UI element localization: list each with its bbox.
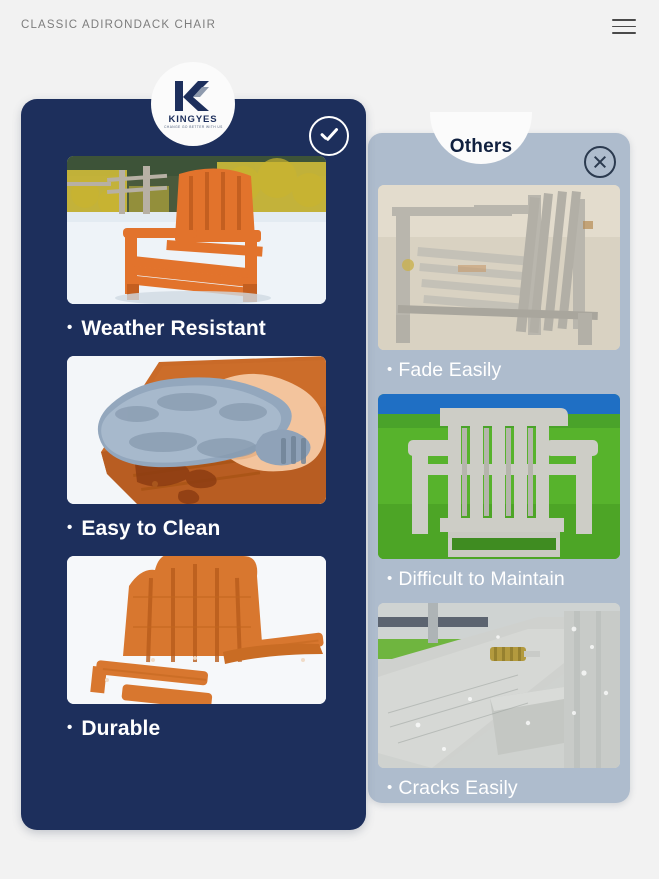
- list-item: •Cracks Easily: [378, 603, 620, 800]
- ours-panel: •Weather Resistant: [21, 99, 366, 830]
- bullet-icon: •: [387, 570, 392, 587]
- hand-wiping-armrest-photo: [67, 356, 326, 504]
- label-text: Difficult to Maintain: [398, 568, 564, 590]
- k-monogram-icon: [172, 79, 214, 113]
- list-item-label: •Difficult to Maintain: [378, 559, 620, 591]
- check-circle-icon[interactable]: [309, 116, 349, 156]
- cracked-gray-wood-with-screw-photo: [378, 603, 620, 768]
- bullet-icon: •: [387, 361, 392, 378]
- list-item-label: •Durable: [67, 704, 326, 741]
- bullet-icon: •: [67, 519, 72, 536]
- comparison-infographic: CLASSIC ADIRONDACK CHAIR: [0, 0, 659, 879]
- list-item: •Fade Easily: [378, 185, 620, 382]
- list-item-label: •Fade Easily: [378, 350, 620, 382]
- page-header: CLASSIC ADIRONDACK CHAIR: [0, 0, 659, 52]
- x-circle-icon[interactable]: [584, 146, 616, 178]
- list-item: •Difficult to Maintain: [378, 394, 620, 591]
- others-feature-list: •Fade Easily: [378, 185, 620, 812]
- hamburger-menu-icon[interactable]: [612, 19, 636, 34]
- orange-adirondack-chair-in-snow-photo: [67, 156, 326, 304]
- brand-logo-badge: KINGYES CHANGE GO BETTER WITH US: [151, 62, 235, 146]
- label-text: Fade Easily: [398, 359, 501, 381]
- list-item-label: •Easy to Clean: [67, 504, 326, 541]
- brand-tagline: CHANGE GO BETTER WITH US: [164, 126, 223, 130]
- label-text: Weather Resistant: [81, 317, 266, 340]
- others-panel: •Fade Easily: [368, 133, 630, 803]
- bullet-icon: •: [67, 719, 72, 736]
- others-badge-label: Others: [450, 136, 512, 158]
- ours-feature-list: •Weather Resistant: [67, 156, 326, 756]
- faded-gray-chair-on-sand-photo: [378, 185, 620, 350]
- orange-adirondack-chair-closeup-photo: [67, 556, 326, 704]
- bullet-icon: •: [67, 319, 72, 336]
- list-item-label: •Cracks Easily: [378, 768, 620, 800]
- weathered-gray-chair-on-grass-photo: [378, 394, 620, 559]
- label-text: Durable: [81, 717, 160, 740]
- list-item-label: •Weather Resistant: [67, 304, 326, 341]
- brand-name: KINGYES: [168, 114, 217, 125]
- bullet-icon: •: [387, 779, 392, 796]
- label-text: Easy to Clean: [81, 517, 220, 540]
- label-text: Cracks Easily: [398, 777, 517, 799]
- list-item: •Weather Resistant: [67, 156, 326, 341]
- list-item: •Durable: [67, 556, 326, 741]
- list-item: •Easy to Clean: [67, 356, 326, 541]
- page-title: CLASSIC ADIRONDACK CHAIR: [21, 19, 216, 31]
